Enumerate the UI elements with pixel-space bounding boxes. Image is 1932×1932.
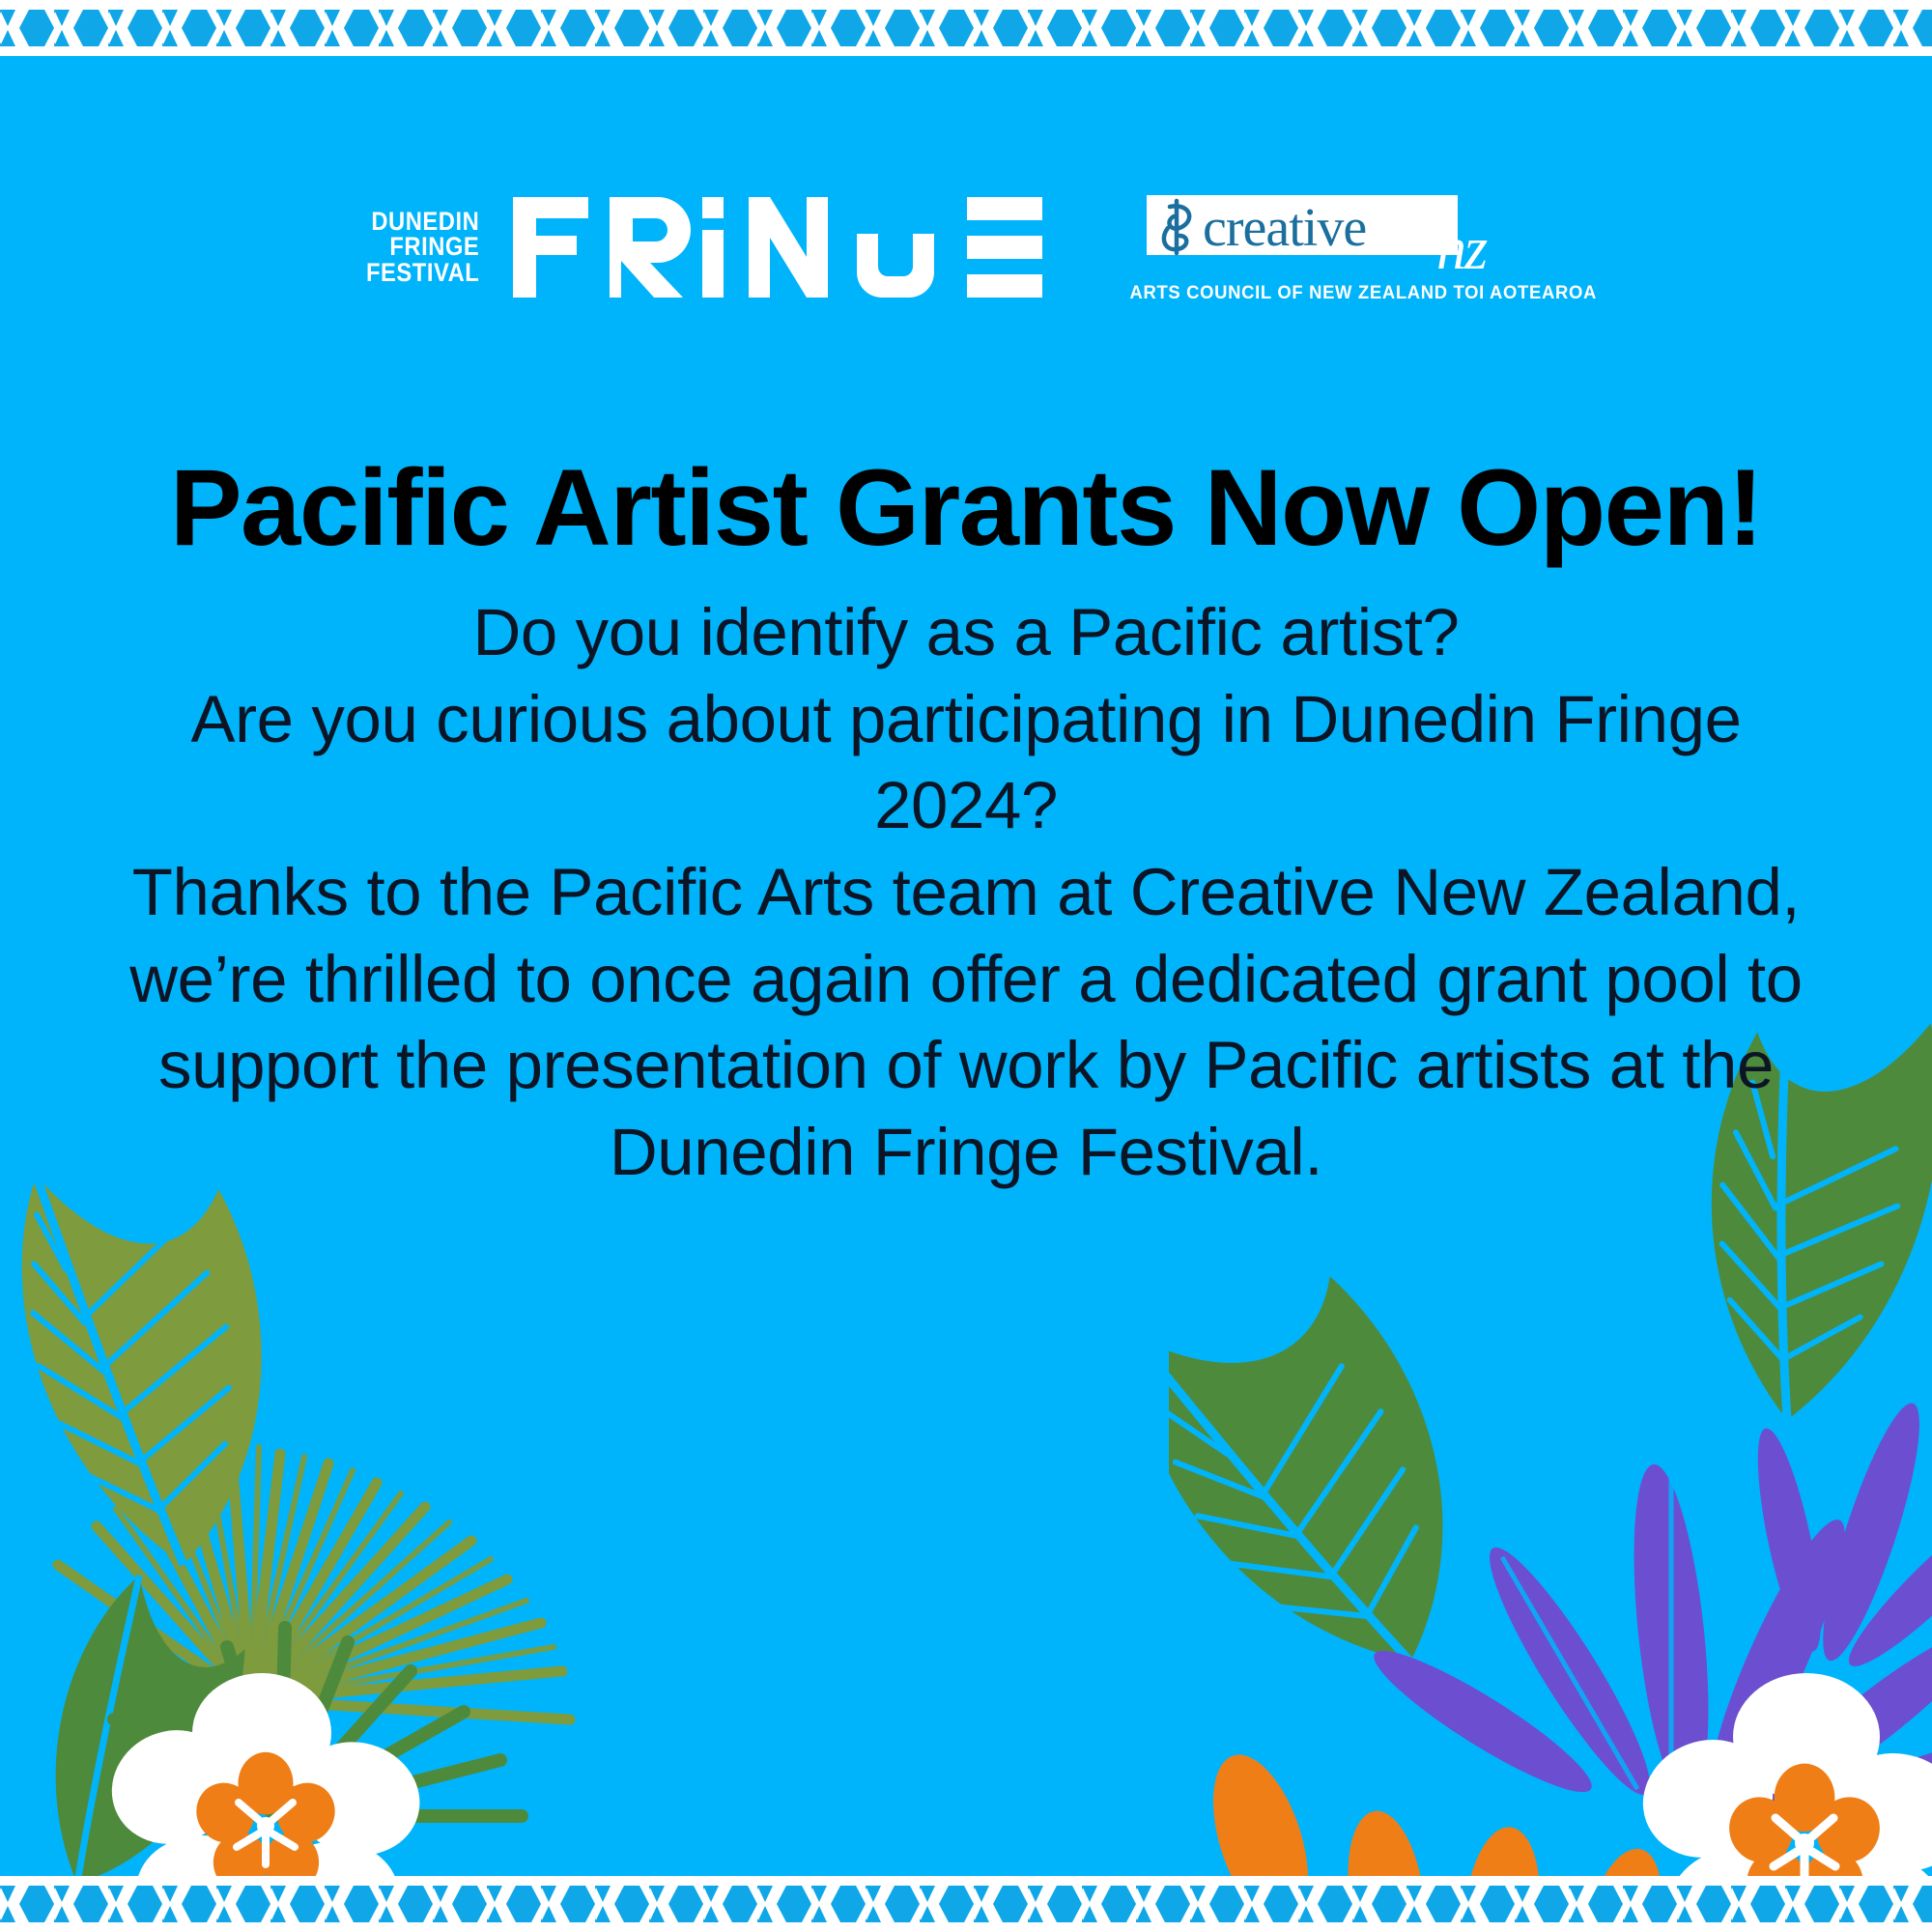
poster-canvas: DUNEDIN FRINGE FESTIVAL xyxy=(0,0,1932,1932)
body-paragraph-2: Are you curious about participating in D… xyxy=(116,676,1816,849)
dff-word-festival: FESTIVAL xyxy=(366,260,479,285)
logo-row: DUNEDIN FRINGE FESTIVAL xyxy=(0,189,1932,304)
dunedin-fringe-stacked-words: DUNEDIN FRINGE FESTIVAL xyxy=(366,209,479,285)
creative-nz-logo[interactable]: creative nz ARTS COUNCIL OF NEW ZEALAND … xyxy=(1147,189,1581,304)
poster-copy: Pacific Artist Grants Now Open! Do you i… xyxy=(0,454,1932,1196)
body-paragraph-1: Do you identify as a Pacific artist? xyxy=(116,589,1816,676)
tapa-pattern-border-top xyxy=(0,0,1932,56)
fringe-wordmark-icon xyxy=(513,197,1042,298)
creative-nz-tagline: ARTS COUNCIL OF NEW ZEALAND TOI AOTEAROA xyxy=(1130,283,1597,304)
tapa-pattern-border-bottom xyxy=(0,1876,1932,1932)
dunedin-fringe-logo[interactable]: DUNEDIN FRINGE FESTIVAL xyxy=(351,197,1041,298)
svg-text:nz: nz xyxy=(1436,216,1488,278)
creative-nz-wordmark-icon: creative nz xyxy=(1147,189,1581,278)
dff-word-fringe: FRINGE xyxy=(390,234,480,259)
body-paragraph-3: Thanks to the Pacific Arts team at Creat… xyxy=(116,849,1816,1196)
svg-text:creative: creative xyxy=(1203,198,1366,258)
dff-word-dunedin: DUNEDIN xyxy=(372,209,480,234)
page-title: Pacific Artist Grants Now Open! xyxy=(46,454,1886,562)
body-copy: Do you identify as a Pacific artist? Are… xyxy=(116,589,1816,1196)
